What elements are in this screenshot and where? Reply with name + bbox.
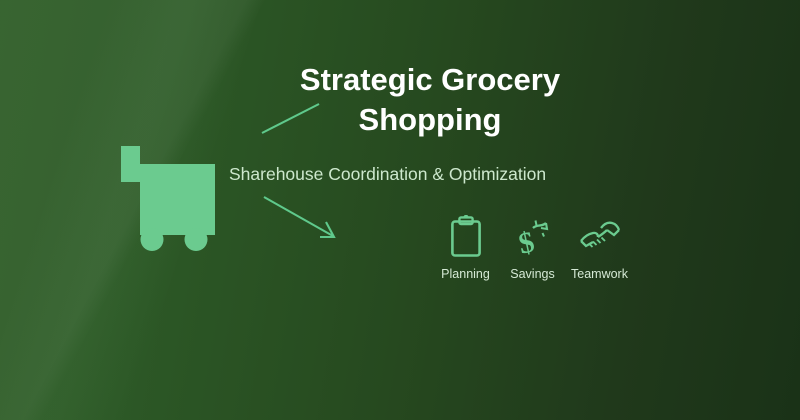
feature-item-teamwork: Teamwork: [566, 214, 633, 282]
feature-label-planning: Planning: [441, 267, 490, 282]
connector-line-up: [262, 104, 319, 133]
feature-icon-row: Planning $ Savings: [432, 214, 633, 282]
connector-arrows: [0, 0, 800, 420]
money-dollar-icon: $: [513, 214, 553, 260]
feature-label-teamwork: Teamwork: [571, 267, 628, 282]
feature-item-planning: Planning: [432, 214, 499, 282]
handshake-icon: [577, 214, 623, 260]
feature-item-savings: $ Savings: [499, 214, 566, 282]
svg-text:$: $: [515, 225, 537, 259]
connector-arrow-down: [264, 197, 333, 236]
clipboard-icon: [448, 214, 484, 260]
feature-label-savings: Savings: [510, 267, 554, 282]
presentation-slide: Strategic Grocery Shopping Sharehouse Co…: [0, 0, 800, 420]
